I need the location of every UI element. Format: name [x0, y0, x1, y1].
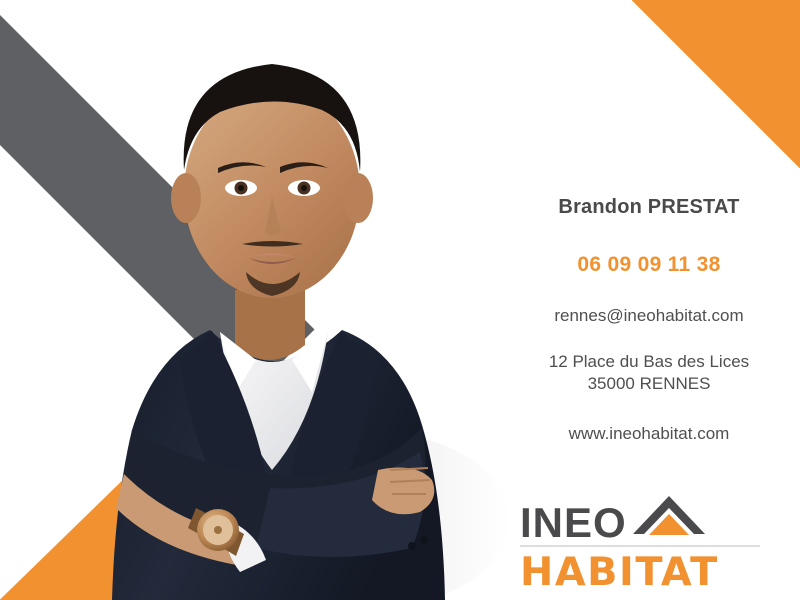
- contact-email[interactable]: rennes@ineohabitat.com: [498, 306, 800, 326]
- contact-phone[interactable]: 06 09 09 11 38: [498, 253, 800, 277]
- contact-address: 12 Place du Bas des Lices 35000 RENNES: [498, 351, 800, 395]
- roof-chevron-icon: [631, 494, 707, 543]
- portrait-photo: [60, 0, 510, 600]
- company-logo[interactable]: INEO HABITAT: [520, 495, 760, 595]
- contact-website[interactable]: www.ineohabitat.com: [498, 424, 800, 444]
- logo-top-row: INEO: [520, 495, 760, 543]
- logo-ineo-text: INEO: [520, 504, 627, 543]
- contact-info-block: Brandon PRESTAT 06 09 09 11 38 rennes@in…: [498, 196, 800, 444]
- contact-address-line2: 35000 RENNES: [498, 373, 800, 395]
- contact-name: Brandon PRESTAT: [498, 196, 800, 219]
- gray-diagonal-band-top-right: [590, 0, 800, 73]
- business-card: Brandon PRESTAT 06 09 09 11 38 rennes@in…: [0, 0, 800, 600]
- orange-corner-triangle-top-right: [632, 0, 800, 168]
- logo-habitat-text: HABITAT: [520, 550, 765, 595]
- contact-address-line1: 12 Place du Bas des Lices: [498, 351, 800, 373]
